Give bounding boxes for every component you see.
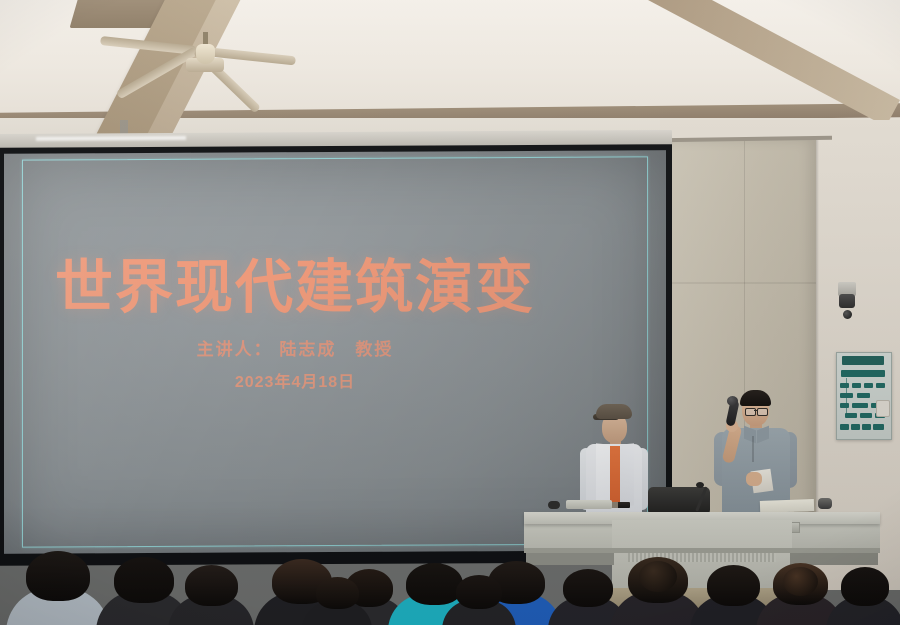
lecture-hall-photo: 世界现代建筑演变 主讲人： 陆志成 教授 2023年4月18日 <box>0 0 900 625</box>
audience-hair-bun <box>783 567 818 596</box>
audience-member <box>442 575 516 623</box>
flat-cap <box>596 404 632 419</box>
poster-node <box>840 424 849 430</box>
audience-head <box>316 577 359 609</box>
microphone-capsule-icon <box>727 396 738 406</box>
audience <box>0 505 900 625</box>
poster-node <box>864 383 873 388</box>
audience-member <box>302 577 372 623</box>
poster-node <box>840 393 853 398</box>
poster-node <box>841 370 885 377</box>
jacket-lapel-left <box>596 443 610 506</box>
audience-member <box>168 565 254 623</box>
poster-node <box>852 403 868 408</box>
poster-node <box>862 424 871 430</box>
poster-node <box>857 393 870 398</box>
poster-node <box>860 413 872 418</box>
audience-head <box>456 575 502 609</box>
glasses-lens-right-icon <box>757 408 768 416</box>
audience-head <box>841 567 889 606</box>
screen-sheen <box>4 150 666 553</box>
polo-placket <box>752 436 754 462</box>
power-socket <box>876 400 890 417</box>
column-form-line <box>668 282 816 284</box>
audience-head <box>114 557 174 603</box>
audience-member <box>826 567 900 623</box>
fan-light-globe <box>196 44 215 64</box>
poster-node <box>845 413 857 418</box>
glasses-bridge-icon <box>754 410 757 411</box>
gooseneck-mic-capsule-icon <box>696 482 704 488</box>
poster-node <box>840 383 849 388</box>
column-edge-shadow <box>816 140 819 560</box>
audience-member <box>6 551 110 623</box>
poster-node <box>876 383 885 388</box>
housing-highlight <box>36 136 186 141</box>
audience-head <box>26 551 90 601</box>
security-camera-icon <box>839 294 855 308</box>
poster-node <box>852 383 861 388</box>
jacket-lapel-right <box>620 443 634 506</box>
audience-head <box>563 569 613 607</box>
presenter-hand-notes <box>746 472 762 486</box>
poster-title-bar <box>842 356 884 365</box>
poster-node <box>840 403 849 408</box>
camera-lens-icon <box>843 310 852 319</box>
presenter-hair <box>740 390 771 406</box>
poster-node <box>851 424 860 430</box>
poster-node <box>873 424 884 430</box>
audience-head <box>707 565 760 606</box>
audience-hair-bun <box>639 561 677 592</box>
audience-head <box>185 565 238 606</box>
